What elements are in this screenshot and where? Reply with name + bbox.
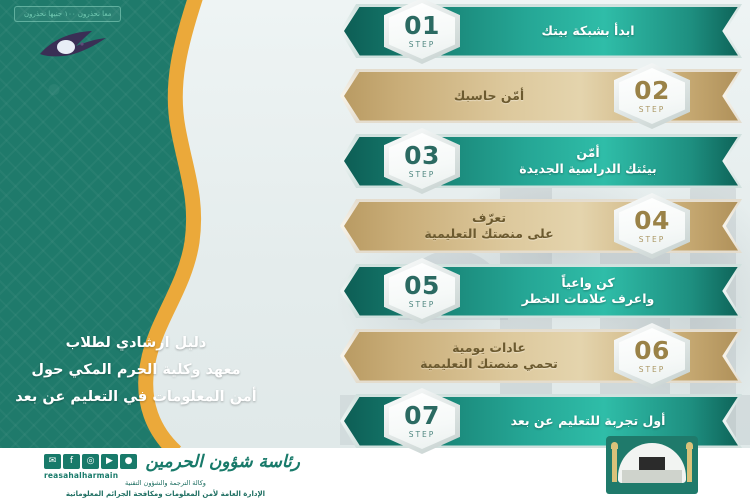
step-text-line-1: كن واعياً <box>561 275 614 292</box>
step-text-line-1: أمّن حاسبك <box>454 88 524 105</box>
emblem-strip <box>614 486 690 491</box>
step-number-badge[interactable]: 04STEP <box>614 193 690 259</box>
dove-icon <box>36 28 110 62</box>
step-banner[interactable]: أمّن حاسبك02STEP <box>340 69 742 123</box>
headline-line-3: أمن المعلومات في التعليم عن بعد <box>0 384 272 411</box>
organization-logo-script: رئاسة شؤون الحرمين <box>150 452 300 472</box>
step-number-badge[interactable]: 02STEP <box>614 63 690 129</box>
step-text-line-1: أول تجربة للتعليم عن بعد <box>511 413 666 430</box>
step-label: STEP <box>409 171 436 179</box>
snapchat-icon[interactable]: ● <box>120 454 137 469</box>
step-banner[interactable]: تعرّفعلى منصتك التعليمية04STEP <box>340 199 742 253</box>
step-number: 01 <box>404 13 440 38</box>
facebook-icon[interactable]: f <box>63 454 80 469</box>
top-badge: معا نحذرون ١٠٠ جنيها نحذرون <box>14 6 121 22</box>
emblem-courtyard <box>622 470 682 483</box>
step-text-line-2: بيئتك الدراسية الجديدة <box>519 161 657 178</box>
step-number-badge[interactable]: 07STEP <box>384 388 460 454</box>
step-text-line-1: ابدأ بشبكة بيتك <box>541 23 634 40</box>
footer: ✉f◎▶● reasahalharmain رئاسة شؤون الحرمين… <box>0 448 750 500</box>
organization-logo: رئاسة شؤون الحرمين <box>150 452 300 478</box>
step-banner[interactable]: عادات يوميةتحمي منصتك التعليمية06STEP <box>340 329 742 383</box>
step-text-line-2: تحمي منصتك التعليمية <box>420 356 558 373</box>
department-text: وكالة الترجمة والشؤون التقنية الإدارة ال… <box>28 479 303 499</box>
social-icon-row[interactable]: ✉f◎▶● <box>44 454 140 469</box>
steps-list: ابدأ بشبكة بيتك01STEPأمّن حاسبك02STEPأمّ… <box>340 4 742 459</box>
step-banner-text: عادات يوميةتحمي منصتك التعليمية <box>366 329 612 383</box>
step-banner[interactable]: أمّنبيئتك الدراسية الجديدة03STEP <box>340 134 742 188</box>
step-label: STEP <box>409 431 436 439</box>
step-number-badge[interactable]: 06STEP <box>614 323 690 389</box>
step-text-line-1: تعرّف <box>472 210 506 227</box>
step-banner-text: تعرّفعلى منصتك التعليمية <box>366 199 612 253</box>
minaret-icon <box>687 448 692 482</box>
step-number: 06 <box>634 338 670 363</box>
infographic-root: معا نحذرون ١٠٠ جنيها نحذرون دليل ارشادي … <box>0 0 750 500</box>
step-number: 07 <box>404 403 440 428</box>
step-banner[interactable]: أول تجربة للتعليم عن بعد07STEP <box>340 394 742 448</box>
step-number: 02 <box>634 78 670 103</box>
department-line-2: الإدارة العامة لأمن المعلومات ومكافحة ال… <box>28 489 303 500</box>
step-text-line-2: على منصتك التعليمية <box>424 226 553 243</box>
headline-line-2: معهد وكلية الحرم المكي حول <box>0 357 272 384</box>
page-title: دليل ارشادي لطلاب معهد وكلية الحرم المكي… <box>0 330 290 410</box>
step-number: 04 <box>634 208 670 233</box>
step-number-badge[interactable]: 01STEP <box>384 0 460 64</box>
step-banner-text: أول تجربة للتعليم عن بعد <box>460 394 716 448</box>
step-text-line-1: أمّن <box>576 145 599 162</box>
emblem-plaque <box>618 443 686 483</box>
step-banner[interactable]: ابدأ بشبكة بيتك01STEP <box>340 4 742 58</box>
step-text-line-1: عادات يومية <box>452 340 526 357</box>
step-number-badge[interactable]: 03STEP <box>384 128 460 194</box>
step-banner[interactable]: كن واعياًواعرف علامات الخطر05STEP <box>340 264 742 318</box>
top-badge-text: معا نحذرون ١٠٠ جنيها نحذرون <box>24 10 111 18</box>
step-label: STEP <box>409 301 436 309</box>
step-number-badge[interactable]: 05STEP <box>384 258 460 324</box>
department-line-1: وكالة الترجمة والشؤون التقنية <box>28 479 303 489</box>
social-block: ✉f◎▶● reasahalharmain <box>44 454 140 480</box>
twitter-icon[interactable]: ✉ <box>44 454 61 469</box>
minaret-icon <box>612 448 617 482</box>
step-banner-text: أمّن حاسبك <box>366 69 612 123</box>
headline-line-1: دليل ارشادي لطلاب <box>0 330 272 357</box>
step-banner-text: كن واعياًواعرف علامات الخطر <box>460 264 716 318</box>
step-label: STEP <box>639 106 666 114</box>
instagram-icon[interactable]: ◎ <box>82 454 99 469</box>
step-label: STEP <box>409 41 436 49</box>
step-label: STEP <box>639 366 666 374</box>
step-label: STEP <box>639 236 666 244</box>
youtube-icon[interactable]: ▶ <box>101 454 118 469</box>
step-banner-text: ابدأ بشبكة بيتك <box>460 4 716 58</box>
step-number: 03 <box>404 143 440 168</box>
step-text-line-2: واعرف علامات الخطر <box>522 291 655 308</box>
step-banner-text: أمّنبيئتك الدراسية الجديدة <box>460 134 716 188</box>
step-number: 05 <box>404 273 440 298</box>
